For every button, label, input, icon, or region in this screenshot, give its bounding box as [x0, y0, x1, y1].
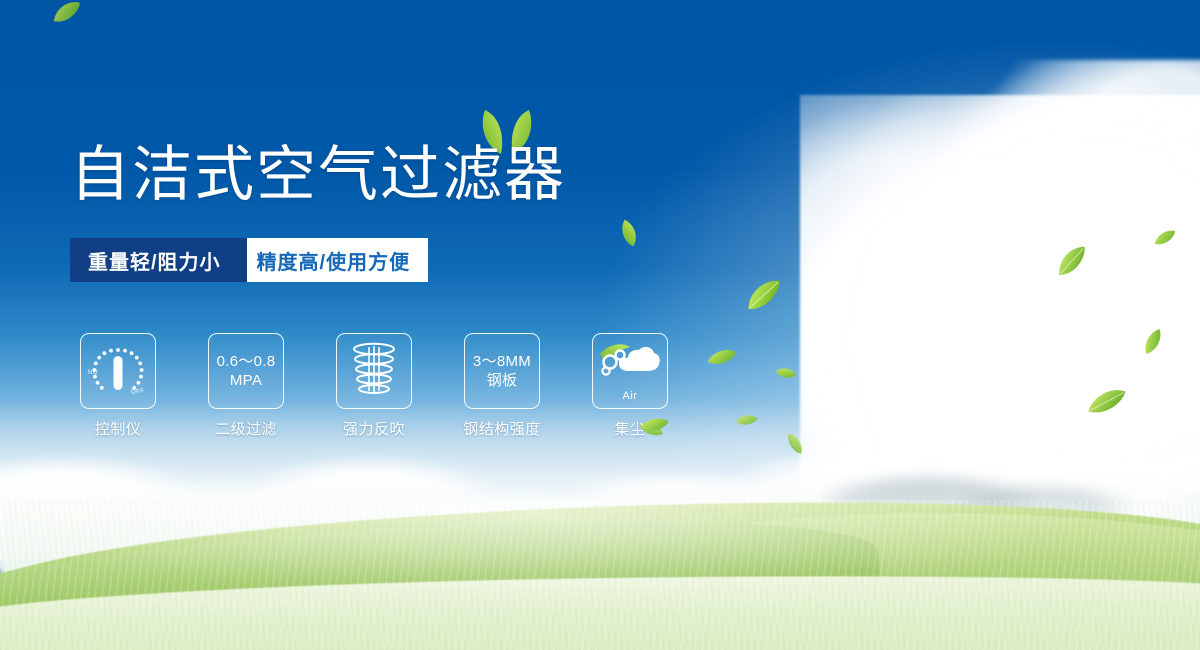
steel-plate-text-icon: 3～8MM 钢板 [473, 352, 531, 390]
feature-icon-box: 0.6～0.8 MPA [208, 333, 284, 409]
badge-precision-convenience: 精度高/使用方便 [231, 238, 429, 282]
air-label: Air [593, 390, 667, 402]
pressure-unit: MPA [217, 371, 276, 390]
banner-content: 自洁式空气过滤器 重量轻/阻力小 精度高/使用方便 [0, 0, 1200, 650]
feature-item-steel-strength[interactable]: 3～8MM 钢板 钢结构强度 [464, 333, 540, 439]
feature-icon-box: Air [592, 333, 668, 409]
feature-label: 强力反吹 [343, 418, 405, 439]
feature-icon-box: 3～8MM 钢板 [464, 333, 540, 409]
feature-icon-box: NO OFF [80, 333, 156, 409]
badge-weight-resistance: 重量轻/阻力小 [70, 238, 247, 282]
feature-item-strong-backflush[interactable]: 强力反吹 [336, 333, 412, 439]
pressure-range: 0.6～0.8 [217, 352, 276, 371]
banner-stage: 自洁式空气过滤器 重量轻/阻力小 精度高/使用方便 [0, 0, 1200, 650]
gauge-label-no: NO [88, 370, 98, 376]
feature-item-control-instrument[interactable]: NO OFF 控制仪 [80, 333, 156, 439]
feature-label: 控制仪 [95, 418, 142, 439]
pressure-text-icon: 0.6～0.8 MPA [217, 352, 276, 390]
subtitle-badges: 重量轻/阻力小 精度高/使用方便 [70, 238, 428, 282]
feature-item-two-stage-filter[interactable]: 0.6～0.8 MPA 二级过滤 [208, 333, 284, 439]
steel-material: 钢板 [473, 371, 531, 390]
feature-icon-box [336, 333, 412, 409]
feature-list: NO OFF 控制仪 0.6～0.8 MPA 二级过滤 [80, 333, 668, 439]
feature-label: 钢结构强度 [463, 418, 541, 439]
steel-thickness: 3～8MM [473, 352, 531, 371]
page-title: 自洁式空气过滤器 [70, 139, 566, 211]
feature-label: 二级过滤 [215, 418, 277, 439]
filter-coil-icon [346, 341, 402, 401]
air-cloud-icon [598, 344, 662, 390]
